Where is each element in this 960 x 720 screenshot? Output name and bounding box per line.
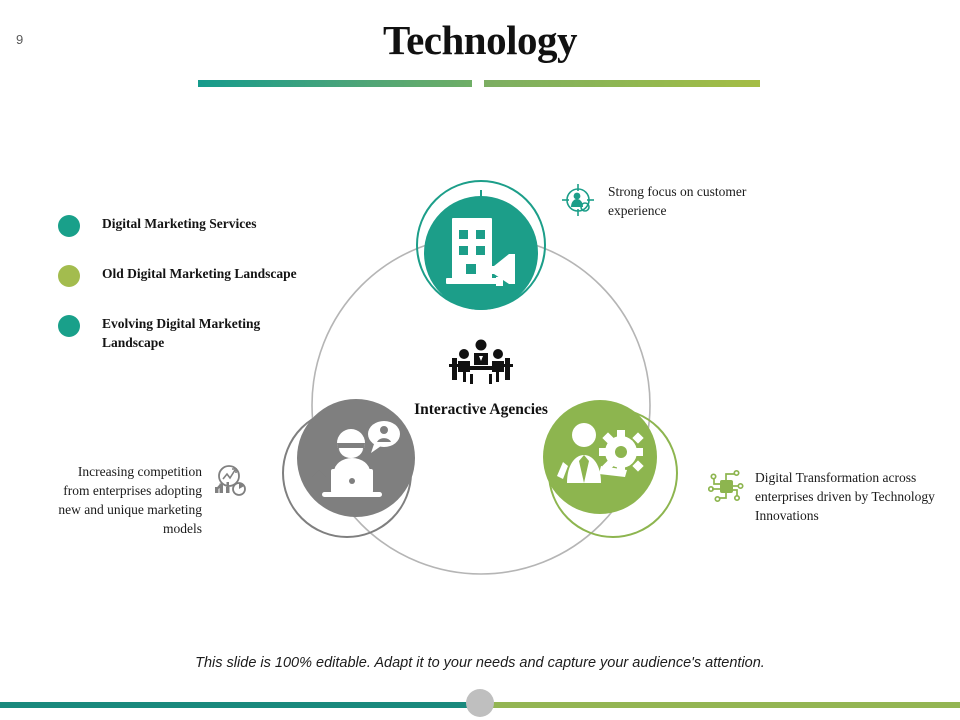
bullet-dot-icon	[58, 265, 80, 287]
building-megaphone-icon	[446, 218, 515, 286]
circuit-chip-icon	[708, 468, 744, 504]
title-rule-right	[484, 80, 760, 87]
title-rule-gap	[472, 80, 484, 87]
callout-text: Strong focus on customer experience	[608, 182, 780, 220]
legend-item-digital-marketing-services[interactable]: Digital Marketing Services	[58, 214, 358, 237]
title-underline-rules	[198, 80, 760, 87]
legend-item-evolving-digital-marketing-landscape[interactable]: Evolving Digital Marketing Landscape	[58, 314, 358, 352]
callout-strong-focus-on-customer-experience[interactable]: Strong focus on customer experience	[560, 182, 810, 220]
footer-note: This slide is 100% editable. Adapt it to…	[0, 655, 960, 672]
bottom-left-node-circle	[297, 399, 415, 517]
callout-text: Increasing competition from enterprises …	[50, 462, 202, 539]
footer-knob	[466, 689, 494, 717]
footer-bar-left	[0, 702, 480, 708]
person-laptop-chat-icon	[322, 421, 400, 497]
top-node-ring	[417, 181, 545, 309]
businessman-gear-icon	[557, 423, 644, 483]
callout-digital-transformation[interactable]: Digital Transformation across enterprise…	[708, 468, 958, 525]
top-node-arrow-icon	[475, 190, 487, 206]
top-node-circle	[424, 196, 538, 310]
footer-bar-right	[480, 702, 960, 708]
legend: Digital Marketing Services Old Digital M…	[58, 214, 358, 379]
bottom-right-node-ring	[549, 409, 677, 537]
bullet-dot-icon	[58, 215, 80, 237]
legend-item-label: Evolving Digital Marketing Landscape	[102, 314, 317, 352]
callout-increasing-competition[interactable]: Increasing competition from enterprises …	[50, 462, 270, 539]
callout-text: Digital Transformation across enterprise…	[755, 468, 947, 525]
legend-item-old-digital-marketing-landscape[interactable]: Old Digital Marketing Landscape	[58, 264, 358, 287]
bottom-left-node-ring	[283, 409, 411, 537]
bottom-left-node-arrow-icon	[312, 470, 326, 477]
meeting-table-icon	[449, 340, 513, 385]
legend-item-label: Old Digital Marketing Landscape	[102, 264, 297, 283]
magnifier-chart-icon	[212, 462, 248, 498]
center-node-label: Interactive Agencies	[400, 400, 562, 420]
legend-item-label: Digital Marketing Services	[102, 214, 256, 233]
target-person-icon	[560, 182, 596, 218]
bottom-right-node-arrow-icon	[634, 463, 648, 470]
page-title: Technology	[0, 18, 960, 63]
title-rule-left	[198, 80, 472, 87]
bullet-dot-icon	[58, 315, 80, 337]
